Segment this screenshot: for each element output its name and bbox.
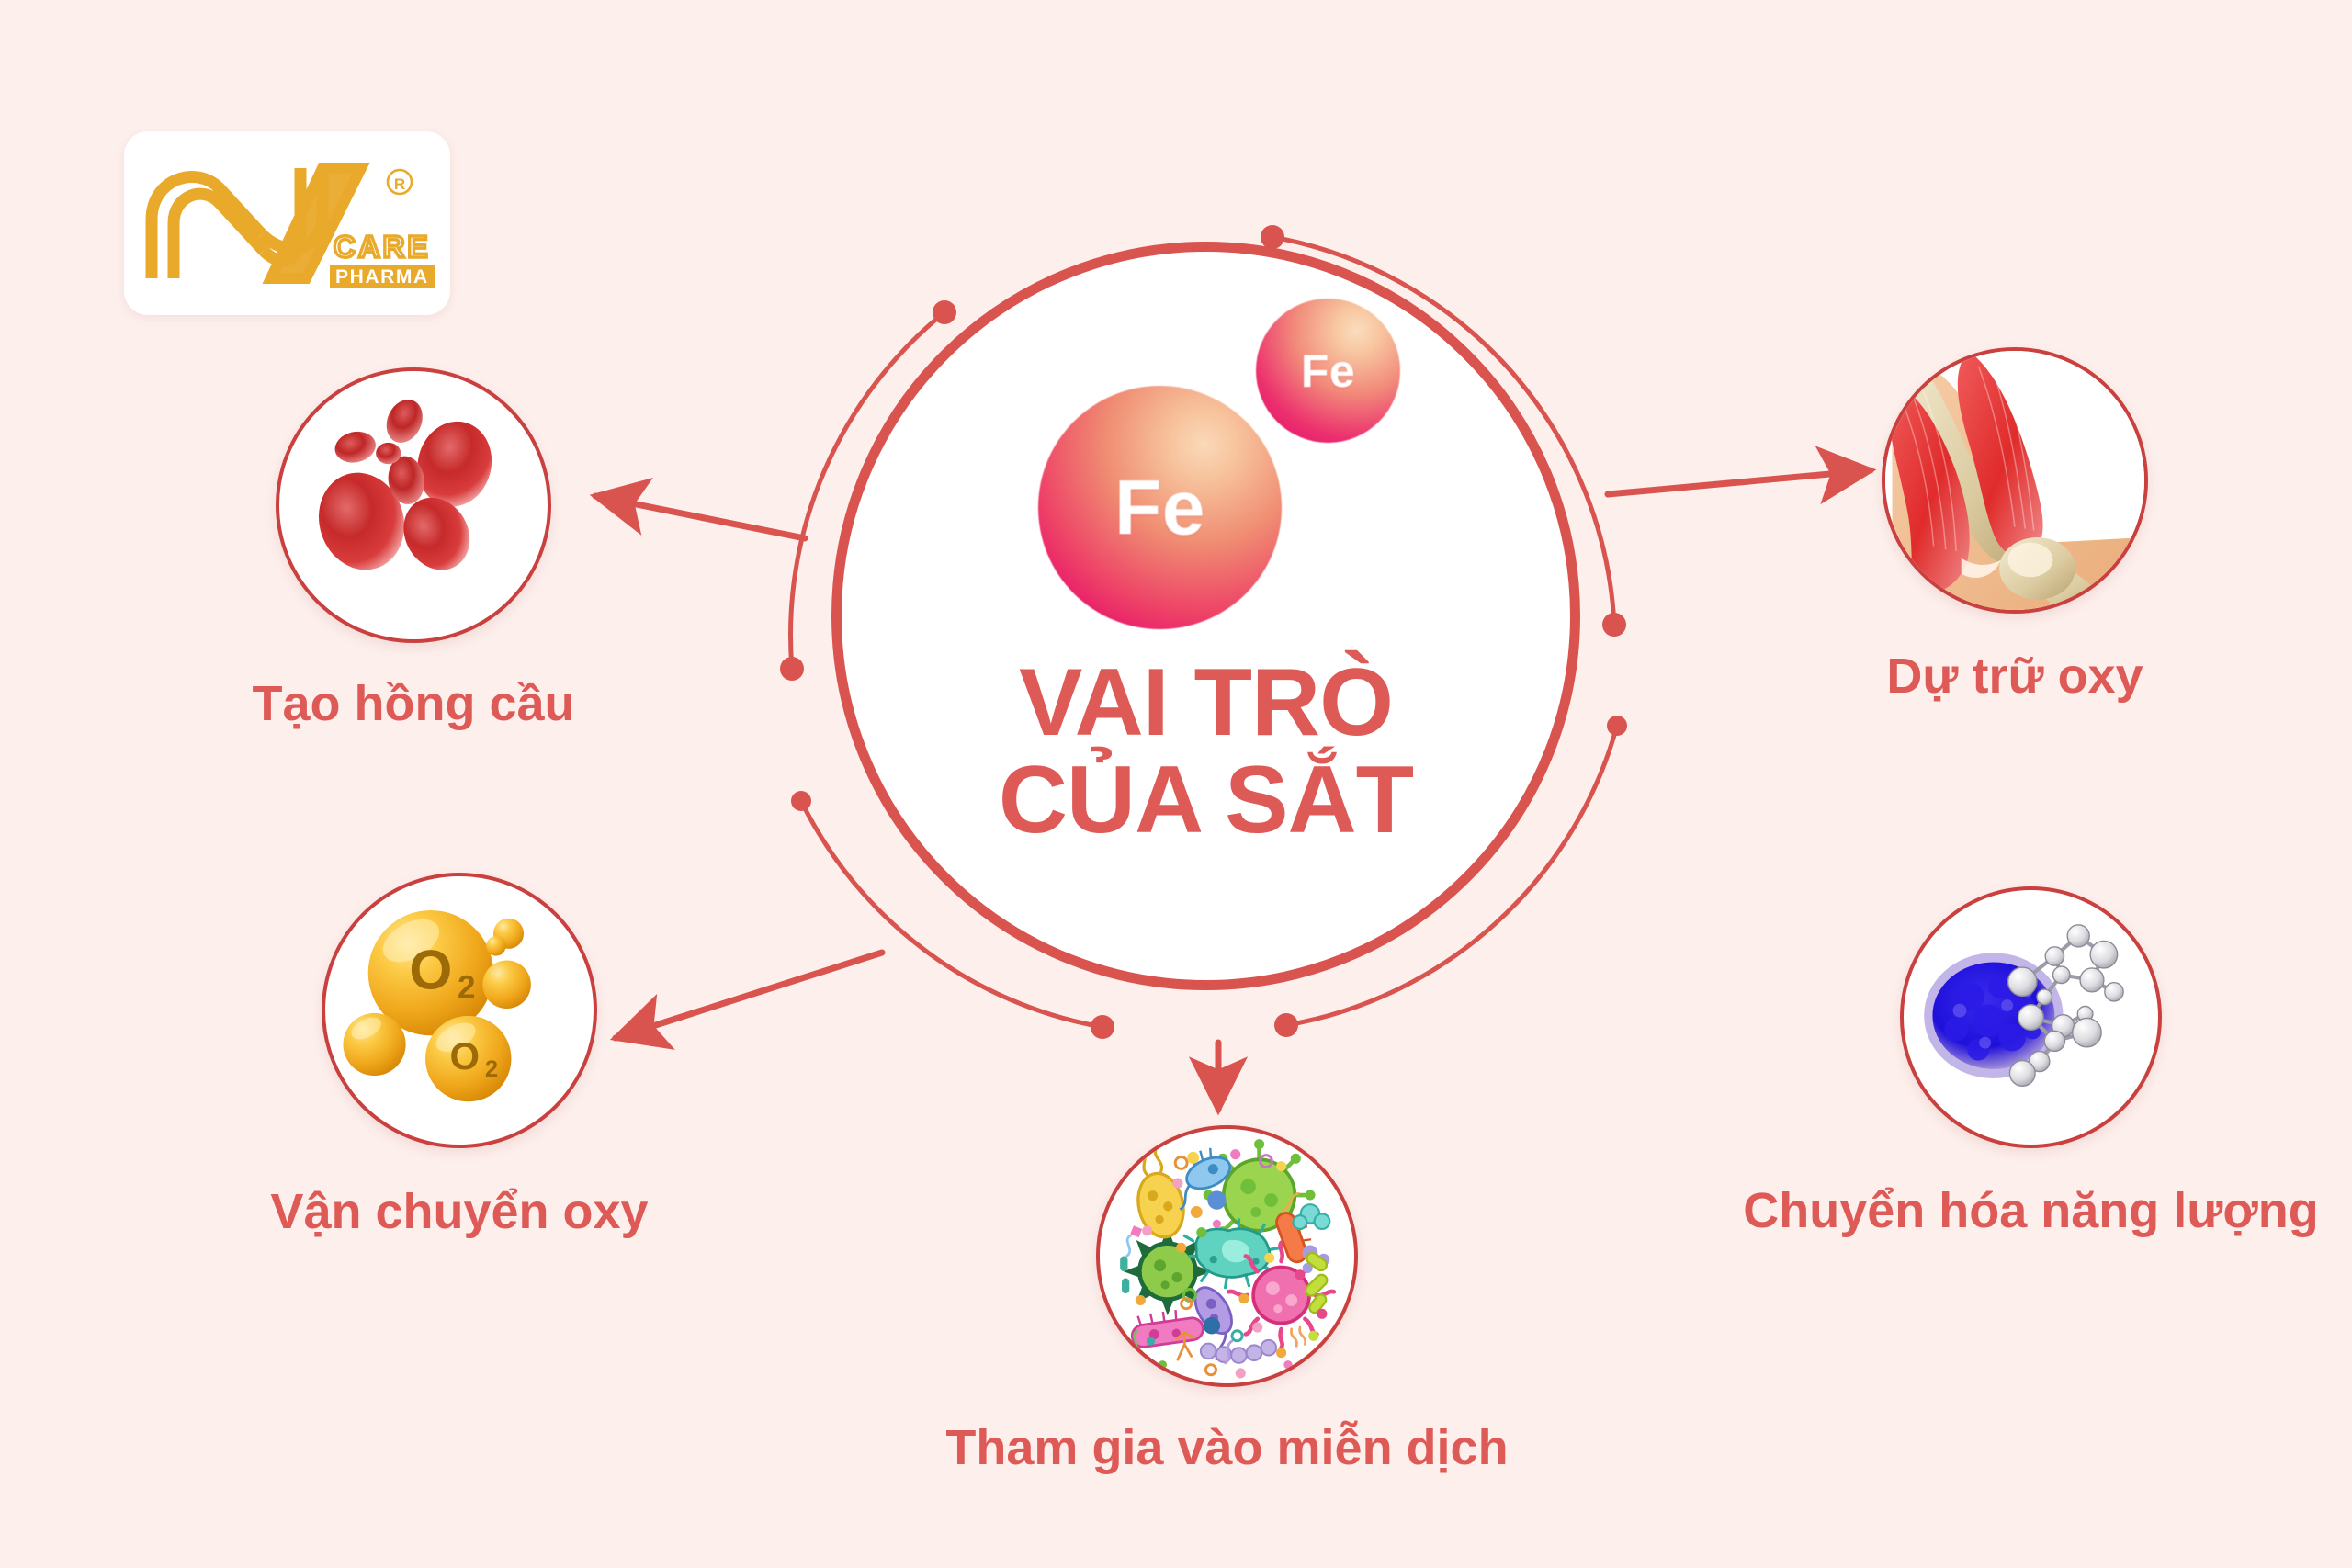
- page-title-line1: VAI TRÒ: [831, 654, 1580, 751]
- muscle-bone-icon: [1882, 347, 2148, 614]
- fe-molecule-small: Fe: [1256, 299, 1400, 443]
- logo-registered-icon: R: [388, 170, 412, 194]
- satellite-label-chuyen-hoa-nang-luong: Chuyển hóa năng lượng: [1597, 1182, 2352, 1239]
- satellite-label-tham-gia-vao-mien-dich: Tham gia vào miễn dịch: [802, 1419, 1652, 1476]
- svg-text:CARE: CARE: [334, 230, 431, 264]
- fe-small-label: Fe: [1256, 344, 1400, 398]
- fe-molecule-large: Fe: [1038, 386, 1282, 629]
- oxygen-bubbles-icon: O 2 O 2: [322, 873, 597, 1148]
- svg-text:R: R: [394, 175, 405, 193]
- fe-large-label: Fe: [1038, 463, 1282, 552]
- red-blood-cells-icon: [276, 367, 551, 643]
- cell-molecule-icon: [1900, 886, 2162, 1148]
- satellite-label-van-chuyen-oxy: Vận chuyển oxy: [188, 1183, 730, 1240]
- arrow-to-oxygen-storage: [1608, 470, 1871, 494]
- logo-care-text: CARE: [334, 230, 431, 264]
- svg-text:2: 2: [485, 1056, 498, 1082]
- svg-text:O: O: [450, 1034, 481, 1077]
- svg-text:2: 2: [458, 969, 475, 1005]
- satellite-label-tao-hong-cau: Tạo hồng cầu: [147, 675, 680, 732]
- page-title: VAI TRÒ CỦA SẮT: [831, 654, 1580, 849]
- arrow-to-red-blood-cells: [595, 496, 805, 538]
- svg-text:PHARMA: PHARMA: [335, 266, 429, 288]
- infographic-canvas: CARE PHARMA R Fe Fe VAI TRÒ CỦA SẮT: [0, 0, 2352, 1568]
- brand-logo: CARE PHARMA R: [124, 131, 450, 315]
- logo-pharma-text: PHARMA: [330, 265, 435, 288]
- arrow-to-oxygen-transport: [616, 953, 882, 1038]
- page-title-line2: CỦA SẮT: [831, 751, 1580, 849]
- satellite-label-du-tru-oxy: Dự trữ oxy: [1753, 648, 2277, 705]
- logo-mark-icon: CARE PHARMA R: [124, 131, 450, 315]
- svg-text:O: O: [409, 939, 452, 1001]
- microbes-icon: [1096, 1125, 1358, 1387]
